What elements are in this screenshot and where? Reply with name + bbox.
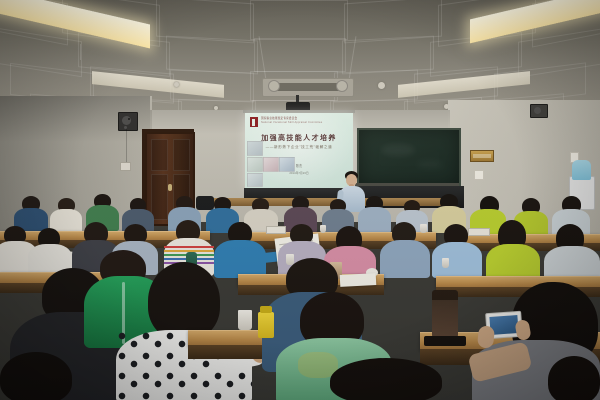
institute-logo bbox=[250, 117, 258, 127]
chair-back bbox=[196, 196, 214, 210]
wall-plaque bbox=[470, 150, 494, 162]
name-card bbox=[266, 226, 286, 234]
vent-diffuser bbox=[268, 80, 280, 92]
paper-cup bbox=[238, 310, 252, 330]
ceiling-tile bbox=[254, 38, 346, 72]
vent-diffuser bbox=[336, 80, 348, 92]
door-panel bbox=[151, 174, 168, 220]
handout-paper bbox=[340, 273, 377, 287]
thermos-cap bbox=[432, 290, 458, 300]
attendee-head bbox=[0, 352, 72, 400]
chalk-smudge bbox=[381, 144, 415, 156]
paper-cup bbox=[320, 225, 326, 233]
attendee-body bbox=[358, 207, 391, 233]
ceiling-tile bbox=[166, 36, 258, 75]
slide-thumbnail bbox=[247, 157, 263, 172]
door-panel bbox=[151, 139, 168, 171]
paper-cup bbox=[442, 258, 449, 268]
ceiling-hanger bbox=[80, 44, 81, 60]
paper-cup bbox=[420, 224, 427, 233]
attendee-body bbox=[432, 242, 482, 278]
attendee-head bbox=[148, 262, 220, 340]
ceiling-tile bbox=[342, 36, 434, 75]
door-handle[interactable] bbox=[168, 184, 172, 191]
slide-thumbnail bbox=[247, 141, 263, 156]
light-switch[interactable] bbox=[120, 162, 131, 171]
spacer bbox=[128, 118, 130, 120]
thermos-base bbox=[424, 336, 466, 346]
wall-notice bbox=[474, 170, 484, 180]
smoke-detector bbox=[378, 82, 385, 89]
ceiling-tile bbox=[250, 0, 348, 40]
speaker-cable bbox=[126, 129, 127, 165]
smoke-detector bbox=[174, 82, 179, 87]
door-panel bbox=[173, 139, 190, 171]
name-card bbox=[468, 228, 490, 236]
green-chalkboard bbox=[357, 128, 461, 188]
wall-speaker bbox=[118, 112, 138, 131]
projection-screen: 国家职业技能鉴定专家委员会 National Vocational Skill … bbox=[245, 113, 353, 189]
lecture-hall-photo: 国家职业技能鉴定专家委员会 National Vocational Skill … bbox=[0, 0, 600, 400]
wall-speaker bbox=[530, 104, 548, 118]
chalk-smudge bbox=[417, 160, 443, 169]
slide-org-line2: National Vocational Skill Appraisal Comm… bbox=[261, 121, 322, 125]
attendee-head bbox=[330, 358, 442, 400]
slide-thumbnail bbox=[279, 157, 295, 172]
slide-thumbnail bbox=[263, 157, 279, 172]
slide-thumbnail bbox=[247, 173, 263, 187]
thermos bbox=[432, 296, 458, 338]
attendee-head bbox=[548, 356, 600, 400]
attendee-body bbox=[380, 240, 430, 278]
water-bottle bbox=[572, 160, 591, 180]
shirt-stripe bbox=[164, 246, 214, 248]
bottle-cap bbox=[260, 306, 272, 313]
yellow-bottle bbox=[258, 312, 274, 338]
